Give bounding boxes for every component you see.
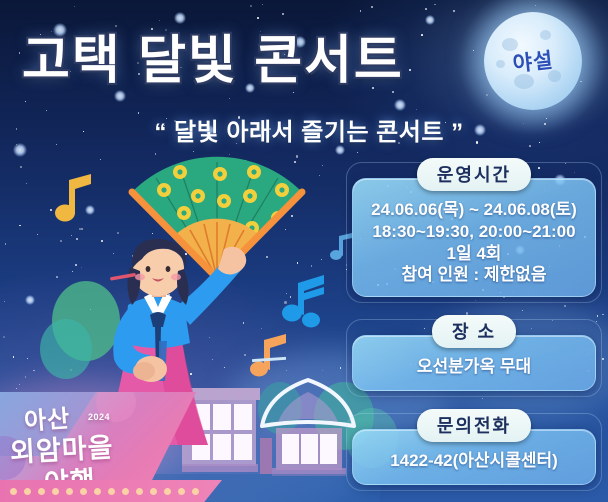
card-header-phone: 문의전화 (417, 409, 531, 442)
moon: 야설 (484, 12, 582, 110)
info-cards: 운영시간 24.06.06(목) ~ 24.06.08(토) 18:30~19:… (352, 158, 596, 497)
page-title: 고택 달빛 콘서트 (22, 24, 482, 86)
card-body-hours: 24.06.06(목) ~ 24.06.08(토) 18:30~19:30, 2… (352, 178, 596, 297)
card-header-hours: 운영시간 (417, 158, 531, 191)
card-header-location: 장 소 (432, 315, 516, 348)
music-note-yellow-icon (55, 172, 97, 229)
moon-disc: 야설 (484, 12, 582, 110)
location-line-1: 오선분가옥 무대 (363, 356, 585, 378)
hours-line-1: 24.06.06(목) ~ 24.06.08(토) (363, 199, 585, 221)
info-card-phone: 문의전화 1422-42(아산시콜센터) (352, 409, 596, 485)
event-poster: 야설 고택 달빛 콘서트 “ 달빛 아래서 즐기는 콘서트 ” (0, 0, 608, 502)
info-card-hours: 운영시간 24.06.06(목) ~ 24.06.08(토) 18:30~19:… (352, 158, 596, 297)
phone-line-1: 1422-42(아산시콜센터) (363, 450, 585, 472)
bottom-dot-banner (0, 480, 222, 502)
hours-line-3: 1일 4회 (363, 243, 585, 265)
hours-line-4: 참여 인원 : 제한없음 (363, 264, 585, 286)
info-card-location: 장 소 오선분가옥 무대 (352, 315, 596, 391)
moon-label: 야설 (479, 7, 587, 115)
logo-year: 2024 (88, 412, 110, 422)
poster-subtitle: “ 달빛 아래서 즐기는 콘서트 ” (74, 112, 544, 146)
hours-line-2: 18:30~19:30, 20:00~21:00 (363, 221, 585, 243)
